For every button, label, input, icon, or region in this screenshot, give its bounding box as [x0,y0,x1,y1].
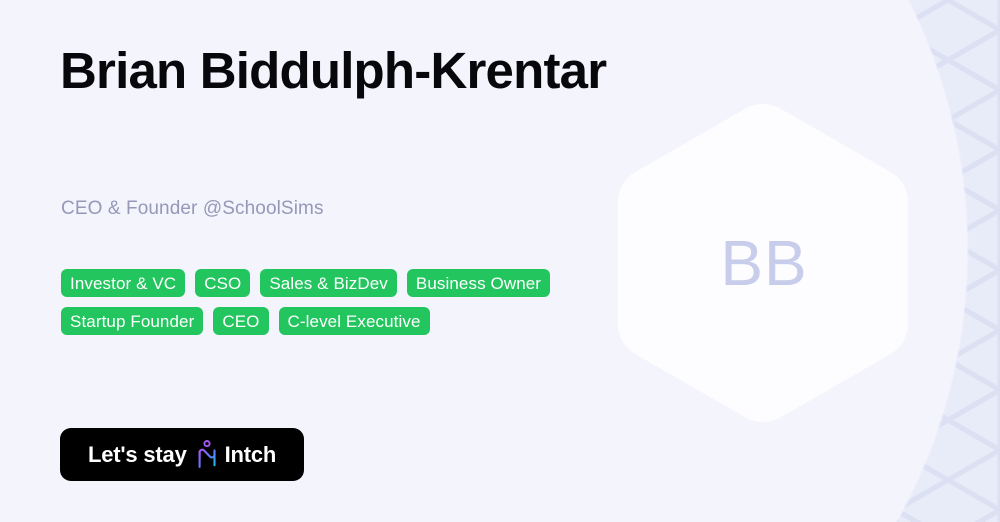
tag-pill[interactable]: Business Owner [407,269,550,297]
cta-brand-name: Intch [225,442,277,468]
tag-list: Investor & VC CSO Sales & BizDev Busines… [61,269,606,335]
cta-label: Let's stay [88,442,187,468]
avatar: BB [608,104,918,422]
profile-content: Brian Biddulph-Krentar CEO & Founder @Sc… [60,0,620,522]
tag-pill[interactable]: C-level Executive [279,307,430,335]
tag-pill[interactable]: Sales & BizDev [260,269,397,297]
lets-stay-intch-button[interactable]: Let's stay Intch [60,428,304,481]
tag-pill[interactable]: CSO [195,269,250,297]
tag-pill[interactable]: Investor & VC [61,269,185,297]
intch-n-logo-icon [196,440,218,470]
profile-card: BB Brian Biddulph-Krentar CEO & Founder … [0,0,1000,522]
tag-pill[interactable]: Startup Founder [61,307,203,335]
page-title: Brian Biddulph-Krentar [60,42,620,99]
profile-subtitle: CEO & Founder @SchoolSims [61,198,324,220]
avatar-initials: BB [608,104,918,422]
tag-pill[interactable]: CEO [213,307,268,335]
